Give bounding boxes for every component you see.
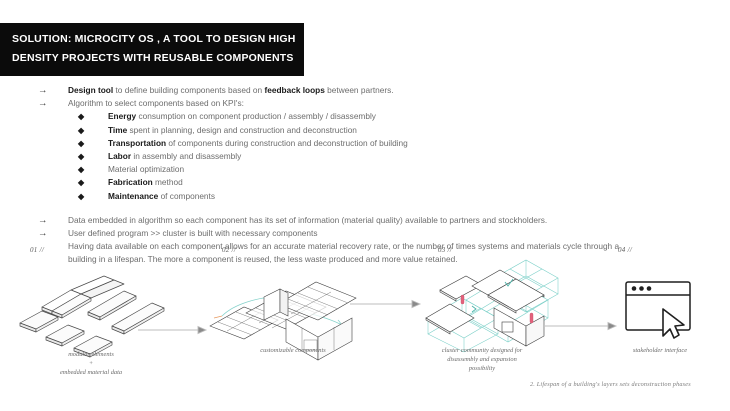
bullet-row-user-defined: → User defined program >> cluster is bui…	[38, 227, 708, 240]
kpi-rest-energy: consumption on component production / as…	[136, 111, 376, 121]
spacer	[38, 203, 708, 214]
bullet-text-data-embedded: Data embedded in algorithm so each compo…	[68, 214, 547, 227]
kpi-text-energy: Energy consumption on component producti…	[108, 110, 376, 123]
panel-01-caption-line-2: +	[26, 359, 156, 368]
kpi-rest-material: Material optimization	[108, 164, 184, 174]
panel-03-caption-line-1: cluster community designed for	[412, 346, 552, 355]
browser-traffic-lights	[632, 286, 652, 291]
kpi-rest-fabrication: method	[153, 177, 183, 187]
panel-02: 02 //	[222, 246, 362, 254]
kpi-text-fabrication: Fabrication method	[108, 176, 183, 189]
arrow-marker-icon: →	[38, 97, 68, 110]
browser-dot-3	[647, 286, 652, 291]
kpi-row-time: ◆ Time spent in planning, design and con…	[78, 124, 708, 137]
panel-02-graphic-customizable-components	[200, 264, 360, 350]
platform-ll	[426, 304, 474, 332]
panel-04-graphic-browser-window	[622, 278, 698, 340]
panel-02-caption-line-1: customizable components	[218, 346, 368, 355]
diamond-marker-icon: ◆	[78, 110, 108, 123]
kpi-rest-maintenance: of components	[158, 191, 215, 201]
panel-03-caption: cluster community designed for disassemb…	[412, 346, 552, 373]
panel-03-graphic-cluster-community	[420, 256, 580, 352]
title-line-1: SOLUTION: MICROCITY OS , A TOOL TO DESIG…	[12, 30, 292, 49]
panel-02-number: 02 //	[222, 246, 362, 254]
slide-page: SOLUTION: MICROCITY OS , A TOOL TO DESIG…	[0, 0, 730, 411]
browser-dot-2	[639, 286, 644, 291]
red-component-1	[461, 295, 464, 304]
footer-caption: 2. Lifespan of a building's layers sets …	[530, 381, 691, 388]
tail-design-tool: between partners.	[325, 85, 394, 95]
bold-feedback-loops: feedback loops	[264, 85, 324, 95]
kpi-text-maintenance: Maintenance of components	[108, 190, 215, 203]
kpi-text-material-optimization: Material optimization	[108, 163, 184, 176]
kpi-bold-transportation: Transportation	[108, 138, 166, 148]
panel-03-caption-line-3: possibility	[412, 364, 552, 373]
panel-01-caption-line-3: embedded material data	[26, 368, 156, 377]
kpi-row-maintenance: ◆ Maintenance of components	[78, 190, 708, 203]
panel-01-number: 01 //	[30, 246, 170, 254]
panel-04-number: 04 //	[618, 246, 730, 254]
diamond-marker-icon: ◆	[78, 150, 108, 163]
kpi-row-energy: ◆ Energy consumption on component produc…	[78, 110, 708, 123]
diamond-marker-icon: ◆	[78, 137, 108, 150]
arrow-marker-icon: →	[38, 84, 68, 97]
bullet-text-user-defined: User defined program >> cluster is built…	[68, 227, 318, 240]
kpi-row-labor: ◆ Labor in assembly and disassembly	[78, 150, 708, 163]
kpi-rest-transportation: of components during construction and de…	[166, 138, 408, 148]
window-front	[502, 322, 513, 332]
diamond-marker-icon: ◆	[78, 124, 108, 137]
title-banner: SOLUTION: MICROCITY OS , A TOOL TO DESIG…	[0, 23, 304, 76]
kpi-bold-energy: Energy	[108, 111, 136, 121]
arrow-marker-icon: →	[38, 227, 68, 240]
panel-03-caption-line-2: disassembly and expansion	[412, 355, 552, 364]
browser-dot-1	[632, 286, 637, 291]
kpi-row-transportation: ◆ Transportation of components during co…	[78, 137, 708, 150]
panel-01-graphic-modular-elements	[16, 268, 166, 358]
diamond-marker-icon: ◆	[78, 190, 108, 203]
kpi-row-fabrication: ◆ Fabrication method	[78, 176, 708, 189]
bold-design-tool: Design tool	[68, 85, 113, 95]
title-line-2: DENSITY PROJECTS WITH REUSABLE COMPONENT…	[12, 49, 292, 68]
orange-tick	[214, 316, 222, 318]
panel-02-caption: customizable components	[218, 346, 368, 355]
kpi-bold-time: Time	[108, 125, 127, 135]
kpi-bold-maintenance: Maintenance	[108, 191, 158, 201]
bullet-text-algorithm: Algorithm to select components based on …	[68, 97, 244, 110]
wall-front-side	[526, 316, 544, 346]
bullet-row-algorithm: → Algorithm to select components based o…	[38, 97, 708, 110]
arrow-head-3	[608, 323, 616, 330]
red-component-2	[530, 313, 533, 323]
bullet-row-data-embedded: → Data embedded in algorithm so each com…	[38, 214, 708, 227]
panel-01-caption-line-1: modular elements	[26, 350, 156, 359]
bullet-row-design-tool: → Design tool to define building compone…	[38, 84, 708, 97]
panel-03: 03 //	[438, 246, 578, 254]
kpi-bold-labor: Labor	[108, 151, 131, 161]
panel-01: 01 //	[30, 246, 170, 254]
panel-04: 04 //	[618, 246, 730, 254]
arrow-head-2	[412, 301, 420, 308]
panel-04-caption: stakeholder interface	[598, 346, 722, 355]
mid-design-tool: to define building components based on	[113, 85, 264, 95]
diamond-marker-icon: ◆	[78, 163, 108, 176]
panel-03-number: 03 //	[438, 246, 578, 254]
kpi-text-time: Time spent in planning, design and const…	[108, 124, 357, 137]
kpi-text-transportation: Transportation of components during cons…	[108, 137, 408, 150]
panel-04-caption-line-1: stakeholder interface	[598, 346, 722, 355]
diamond-marker-icon: ◆	[78, 176, 108, 189]
kpi-bold-fabrication: Fabrication	[108, 177, 153, 187]
kpi-row-material-optimization: ◆ Material optimization	[78, 163, 708, 176]
bullet-content: → Design tool to define building compone…	[38, 84, 708, 265]
arrow-marker-icon: →	[38, 214, 68, 227]
kpi-text-labor: Labor in assembly and disassembly	[108, 150, 241, 163]
kpi-rest-time: spent in planning, design and constructi…	[127, 125, 357, 135]
bullet-text-design-tool: Design tool to define building component…	[68, 84, 394, 97]
panel-01-caption: modular elements + embedded material dat…	[26, 350, 156, 377]
kpi-rest-labor: in assembly and disassembly	[131, 151, 241, 161]
wall-panel-center-side	[280, 289, 288, 316]
